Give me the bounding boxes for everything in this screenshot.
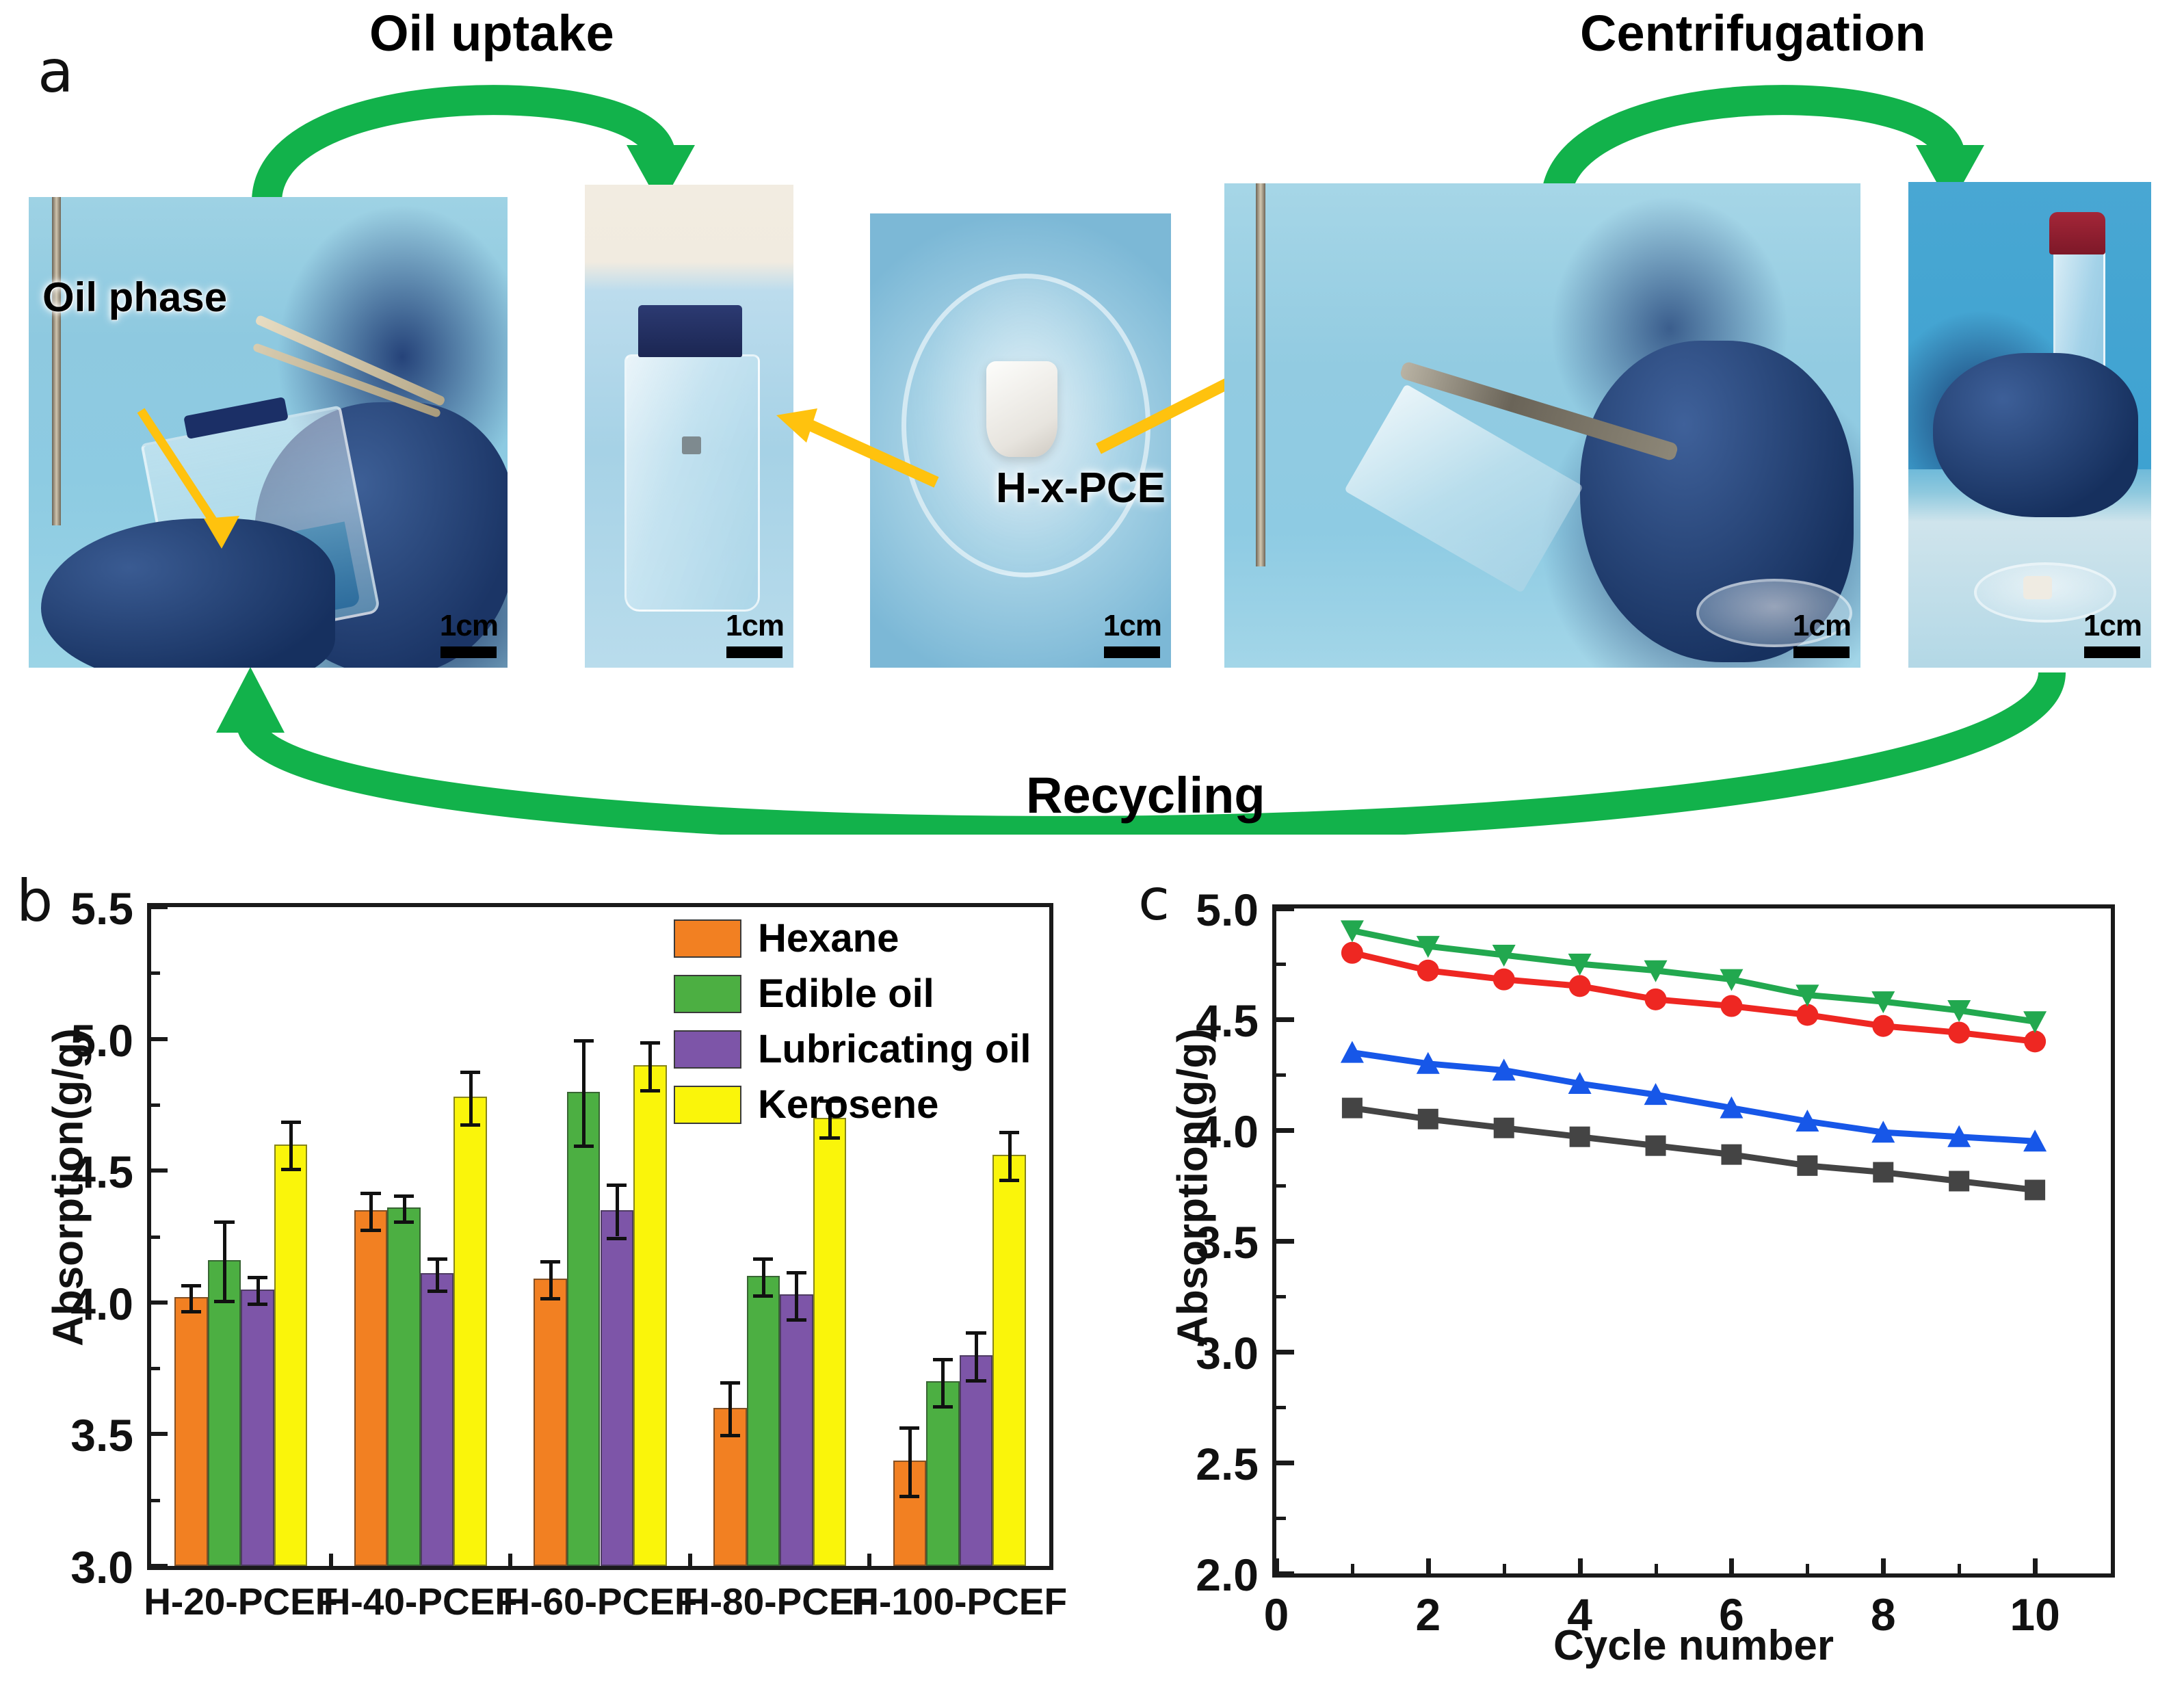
line-chart-x-axis-title: Cycle number <box>1272 1621 2115 1670</box>
error-bar-cap <box>933 1358 953 1361</box>
data-point-edible-oil <box>1645 989 1667 1010</box>
data-point-edible-oil <box>1341 942 1363 964</box>
y-major-tick <box>1276 1128 1294 1133</box>
foam-sample <box>986 361 1057 457</box>
error-bar <box>289 1121 293 1168</box>
bar-h-100-pcef-edible-oil <box>926 1381 960 1566</box>
y-minor-tick <box>151 1235 160 1239</box>
error-bar <box>975 1331 978 1378</box>
scale-bar: 1cm <box>440 611 498 658</box>
stand-rod <box>52 197 61 525</box>
data-point-hexane <box>1494 1118 1514 1138</box>
bar-chart-legend: HexaneEdible oilLubricating oilKerosene <box>674 915 1031 1137</box>
data-point-hexane <box>1418 1109 1438 1129</box>
y-minor-tick <box>1276 1406 1286 1409</box>
recycling-label: Recycling <box>1026 766 1265 824</box>
legend-item-edible-oil: Edible oil <box>674 971 1031 1017</box>
error-bar-cap <box>248 1303 267 1306</box>
stand-rod <box>1256 183 1265 566</box>
legend-label: Edible oil <box>758 971 934 1017</box>
y-minor-tick <box>1276 1073 1286 1077</box>
centrifugation-label: Centrifugation <box>1580 4 1926 62</box>
photo-sealed-bottle-with-sample: 1cm <box>585 185 793 668</box>
error-bar-cap <box>787 1318 806 1322</box>
error-bar <box>469 1071 473 1123</box>
reagent-bottle <box>624 354 760 612</box>
data-point-edible-oil <box>1569 975 1591 997</box>
bar-h-20-pcef-lubricating-oil <box>241 1290 274 1566</box>
legend-label: Kerosene <box>758 1082 938 1127</box>
photo-beaker-in-gloved-hand: 1cm <box>29 197 508 668</box>
data-point-hexane <box>2025 1179 2045 1200</box>
bar-h-60-pcef-hexane <box>534 1279 567 1566</box>
error-bar-cap <box>360 1229 380 1232</box>
data-point-edible-oil <box>1796 1004 1818 1026</box>
oil-uptake-label: Oil uptake <box>369 4 614 62</box>
error-bar-cap <box>607 1183 627 1187</box>
error-bar-cap <box>281 1121 301 1124</box>
error-bar-cap <box>787 1271 806 1274</box>
error-bar-cap <box>281 1168 301 1171</box>
y-major-tick <box>151 1168 168 1173</box>
data-point-hexane <box>1570 1127 1590 1147</box>
error-bar <box>256 1276 260 1303</box>
error-bar <box>549 1260 553 1297</box>
y-major-tick <box>151 1564 168 1568</box>
bar-h-20-pcef-edible-oil <box>208 1260 241 1566</box>
scale-bar-line <box>1793 646 1850 658</box>
data-point-edible-oil <box>1493 969 1515 991</box>
x-tick-label: H-100-PCEF <box>850 1580 1069 1623</box>
data-point-hexane <box>1721 1145 1741 1165</box>
error-bar-cap <box>720 1381 740 1385</box>
sample-annotation: H-x-PCE <box>996 464 1166 512</box>
x-major-tick <box>2033 1558 2038 1575</box>
bar-h-80-pcef-kerosene <box>813 1118 847 1566</box>
y-tick-label: 5.0 <box>1129 884 1259 936</box>
error-bar-cap <box>933 1405 953 1409</box>
y-major-tick <box>1276 1461 1294 1465</box>
error-bar-cap <box>214 1220 234 1224</box>
error-bar <box>369 1192 373 1229</box>
x-major-tick <box>1426 1558 1431 1575</box>
error-bar <box>582 1039 586 1145</box>
gloved-hand <box>1933 353 2138 517</box>
line-hexane <box>1352 1108 2035 1190</box>
bar-chart-y-axis-title: Absorption(g/g) <box>44 962 93 1413</box>
line-chart-y-axis-title: Absorption(g/g) <box>1169 962 1218 1413</box>
bar-h-100-pcef-lubricating-oil <box>960 1355 993 1566</box>
error-bar-cap <box>966 1379 986 1383</box>
y-major-tick <box>151 905 168 909</box>
error-bar <box>728 1381 732 1434</box>
error-bar <box>762 1257 765 1294</box>
scale-bar-line <box>1104 646 1160 658</box>
data-point-hexane <box>1797 1155 1817 1176</box>
oil-phase-pointer-icon <box>131 402 254 560</box>
y-major-tick <box>1276 1017 1294 1022</box>
x-minor-tick <box>1655 1564 1658 1575</box>
y-tick-label: 3.0 <box>10 1541 133 1593</box>
error-bar-cap <box>574 1039 594 1043</box>
y-major-tick <box>151 1300 168 1305</box>
legend-swatch <box>674 1086 741 1124</box>
y-tick-label: 2.5 <box>1129 1438 1259 1490</box>
panel-label-a: a <box>38 38 74 106</box>
y-major-tick <box>1276 906 1294 911</box>
y-minor-tick <box>1276 1184 1286 1188</box>
x-minor-tick <box>1503 1564 1506 1575</box>
x-tick <box>329 1554 333 1567</box>
data-point-hexane <box>1949 1171 1969 1192</box>
sample-in-bottle <box>682 436 701 454</box>
error-bar-cap <box>360 1192 380 1195</box>
error-bar-cap <box>540 1297 560 1300</box>
error-bar-cap <box>640 1041 660 1045</box>
bar-h-40-pcef-hexane <box>354 1210 388 1566</box>
line-chart-plot-area <box>1272 904 2115 1578</box>
oil-phase-annotation: Oil phase <box>42 274 227 321</box>
data-point-edible-oil <box>1720 995 1742 1017</box>
line-edible-oil <box>1352 953 2035 1042</box>
y-tick-label: 3.5 <box>10 1409 133 1461</box>
bar-h-40-pcef-edible-oil <box>387 1207 421 1566</box>
error-bar-cap <box>540 1260 560 1264</box>
data-point-edible-oil <box>1948 1021 1970 1043</box>
y-minor-tick <box>151 1499 160 1502</box>
legend-label: Hexane <box>758 915 899 961</box>
photo-centrifuge-tube-in-gloved-hand: 1cm <box>1908 182 2151 668</box>
x-tick <box>867 1554 871 1567</box>
bar-h-100-pcef-kerosene <box>992 1155 1026 1566</box>
scale-bar: 1cm <box>726 611 784 658</box>
y-minor-tick <box>1276 1295 1286 1298</box>
scale-bar: 1cm <box>1103 611 1161 658</box>
error-bar <box>941 1358 945 1405</box>
bar-h-20-pcef-hexane <box>174 1297 208 1566</box>
data-point-edible-oil <box>1417 960 1439 982</box>
error-bar-cap <box>999 1179 1019 1182</box>
scale-bar-line <box>440 646 497 658</box>
error-bar <box>189 1284 193 1311</box>
error-bar-cap <box>574 1145 594 1148</box>
y-minor-tick <box>151 971 160 975</box>
legend-item-kerosene: Kerosene <box>674 1082 1031 1127</box>
line-series-container <box>1276 908 2111 1573</box>
y-major-tick <box>1276 1239 1294 1244</box>
error-bar <box>1008 1131 1012 1178</box>
x-minor-tick <box>1351 1564 1354 1575</box>
error-bar-cap <box>214 1300 234 1303</box>
y-minor-tick <box>151 1103 160 1107</box>
scale-bar: 1cm <box>1793 611 1851 658</box>
x-tick <box>508 1554 512 1567</box>
figure-root: a Oil uptake Centrifugation Recycling <box>0 0 2184 1687</box>
bar-h-60-pcef-lubricating-oil <box>601 1210 634 1566</box>
y-minor-tick <box>151 1367 160 1370</box>
error-bar-cap <box>899 1426 919 1430</box>
recovered-foam-sample <box>2023 576 2052 599</box>
legend-swatch <box>674 975 741 1013</box>
error-bar <box>436 1257 439 1289</box>
error-bar-cap <box>607 1237 627 1240</box>
error-bar-cap <box>720 1434 740 1437</box>
y-major-tick <box>151 1432 168 1436</box>
centrifuge-tube-cap <box>2049 212 2105 254</box>
legend-item-hexane: Hexane <box>674 915 1031 961</box>
error-bar-cap <box>181 1284 201 1287</box>
data-point-edible-oil <box>1872 1015 1894 1037</box>
error-bar-cap <box>460 1071 480 1074</box>
data-point-hexane <box>1873 1162 1893 1183</box>
error-bar <box>648 1041 652 1088</box>
error-bar-cap <box>460 1123 480 1127</box>
error-bar <box>908 1426 912 1495</box>
error-bar-cap <box>753 1294 773 1298</box>
error-bar <box>795 1271 798 1318</box>
x-major-tick <box>1578 1558 1583 1575</box>
scale-bar-line <box>726 646 782 658</box>
error-bar-cap <box>899 1495 919 1498</box>
legend-label: Lubricating oil <box>758 1026 1031 1072</box>
photo-tweezers-holding-saturated-film: 1cm <box>1224 183 1860 668</box>
line-lubricating-oil <box>1352 1053 2035 1142</box>
y-minor-tick <box>1276 1517 1286 1520</box>
error-bar-cap <box>427 1257 447 1261</box>
error-bar <box>616 1183 619 1236</box>
error-bar-cap <box>753 1257 773 1261</box>
x-major-tick <box>1729 1558 1734 1575</box>
y-minor-tick <box>1276 963 1286 966</box>
bar-h-40-pcef-kerosene <box>453 1097 487 1566</box>
x-tick <box>688 1554 692 1567</box>
error-bar <box>223 1220 226 1300</box>
bar-h-20-pcef-kerosene <box>274 1145 308 1566</box>
bottle-cap <box>638 305 742 357</box>
legend-item-lubricating-oil: Lubricating oil <box>674 1026 1031 1072</box>
bar-h-60-pcef-kerosene <box>633 1065 667 1566</box>
legend-swatch <box>674 919 741 958</box>
error-bar <box>403 1194 406 1221</box>
x-minor-tick <box>1806 1564 1809 1575</box>
error-bar-cap <box>248 1276 267 1279</box>
y-tick-label: 5.5 <box>10 882 133 934</box>
bar-h-80-pcef-lubricating-oil <box>780 1294 813 1566</box>
error-bar-cap <box>640 1089 660 1093</box>
x-minor-tick <box>1958 1564 1961 1575</box>
x-major-tick <box>1274 1558 1279 1575</box>
panel-a-schematic: a Oil uptake Centrifugation Recycling <box>0 0 2184 855</box>
data-point-hexane <box>1646 1136 1666 1156</box>
data-point-edible-oil <box>2024 1030 2046 1052</box>
error-bar-cap <box>966 1331 986 1335</box>
data-point-hexane <box>1342 1098 1363 1119</box>
scale-bar: 1cm <box>2083 611 2142 658</box>
bar-h-60-pcef-edible-oil <box>567 1092 601 1566</box>
error-bar-cap <box>181 1310 201 1313</box>
error-bar-cap <box>394 1194 414 1198</box>
scale-bar-line <box>2084 646 2140 658</box>
y-major-tick <box>1276 1350 1294 1355</box>
legend-swatch <box>674 1030 741 1069</box>
x-major-tick <box>1881 1558 1886 1575</box>
bar-h-40-pcef-lubricating-oil <box>421 1273 454 1566</box>
y-major-tick <box>151 1037 168 1041</box>
photo-petri-dish-with-foam-sample: H-x-PCE 1cm <box>870 213 1171 668</box>
error-bar-cap <box>427 1290 447 1293</box>
error-bar-cap <box>394 1220 414 1224</box>
bar-h-80-pcef-edible-oil <box>747 1276 780 1566</box>
